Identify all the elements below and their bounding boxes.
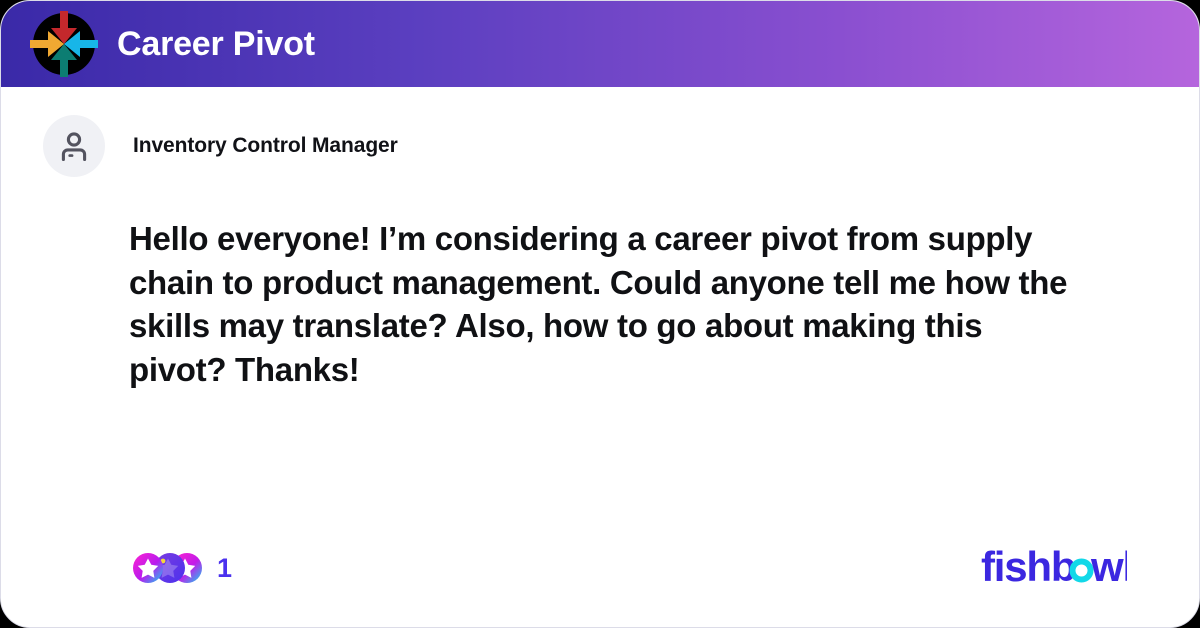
svg-text:fishb: fishb xyxy=(981,545,1075,590)
page-title: Career Pivot xyxy=(117,27,315,61)
person-avatar-icon xyxy=(57,129,91,163)
author-row: Inventory Control Manager xyxy=(1,87,1199,177)
reaction-star-badges-icon[interactable] xyxy=(129,552,203,584)
avatar xyxy=(43,115,105,177)
fishbowl-brand-logo: fishb wl xyxy=(981,545,1127,591)
author-name: Inventory Control Manager xyxy=(133,134,398,158)
career-pivot-arrows-icon xyxy=(29,9,99,79)
card-header: Career Pivot xyxy=(1,1,1199,87)
reaction-count: 1 xyxy=(217,555,232,582)
post-card: Career Pivot Inventory Control Manager H… xyxy=(0,0,1200,628)
card-footer: 1 fishb wl xyxy=(1,544,1199,592)
reactions-group[interactable]: 1 xyxy=(129,552,232,584)
svg-text:wl: wl xyxy=(1090,545,1127,590)
card-body: Inventory Control Manager Hello everyone… xyxy=(1,87,1199,628)
post-text: Hello everyone! I’m considering a career… xyxy=(129,217,1071,391)
